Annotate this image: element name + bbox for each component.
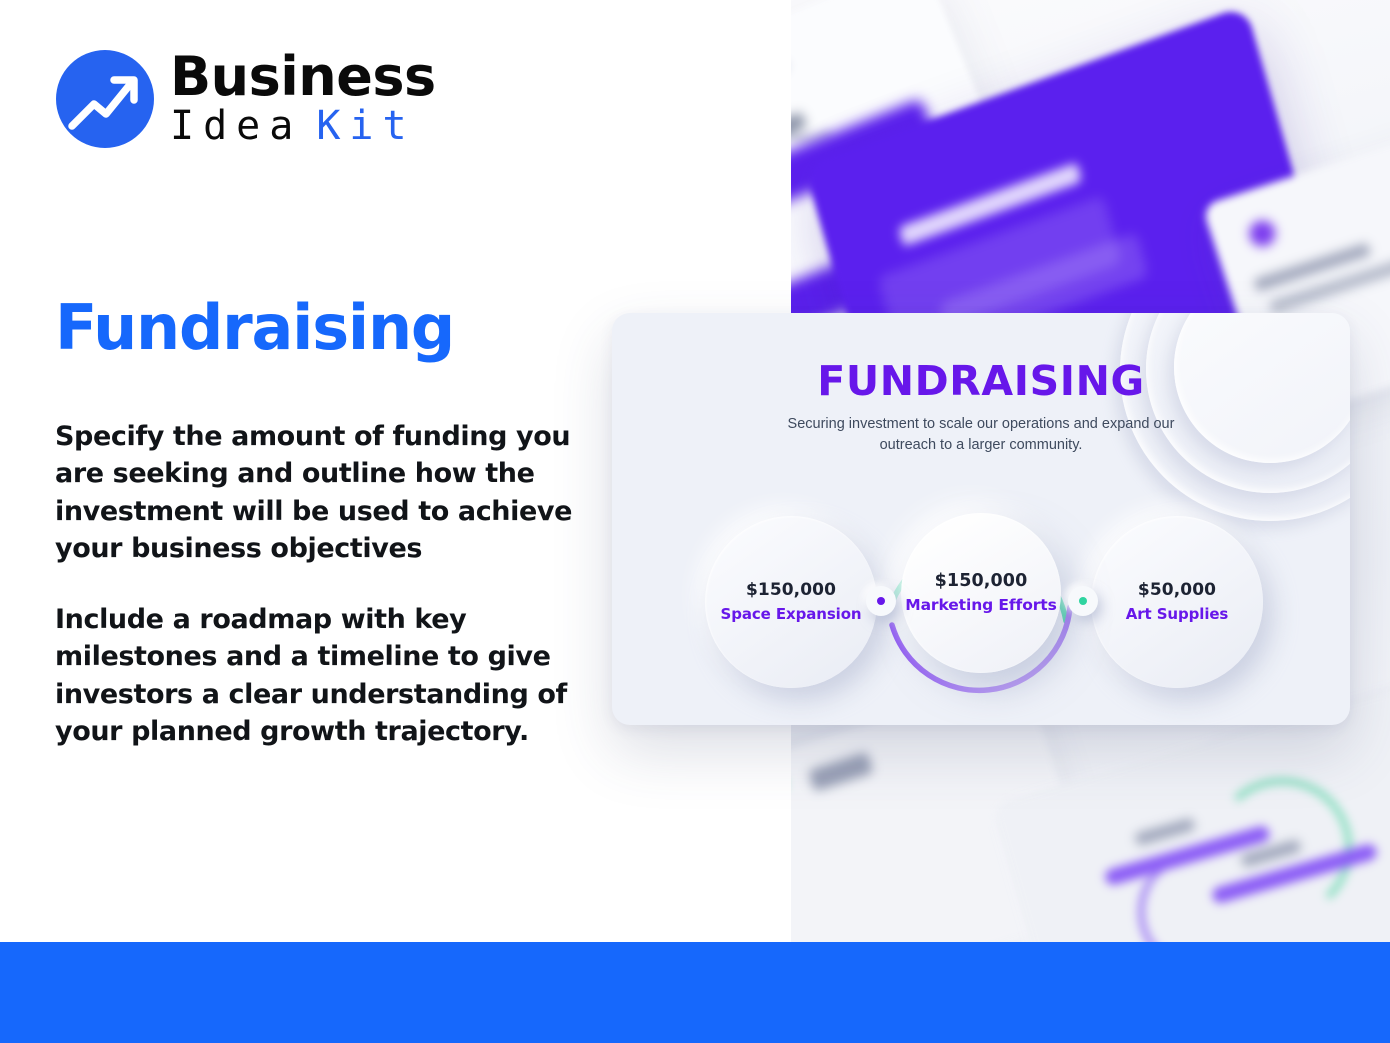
- brand-kit-text: Kit: [316, 106, 415, 146]
- body-copy: Specify the amount of funding you are se…: [55, 418, 575, 750]
- fund-item-label: Marketing Efforts: [905, 595, 1056, 616]
- backdrop-dot-c1: [1246, 217, 1279, 250]
- brand-idea-text: Idea: [170, 106, 302, 146]
- node-dot-purple: [877, 597, 885, 605]
- fund-item-label: Space Expansion: [721, 604, 862, 624]
- paragraph-1: Specify the amount of funding you are se…: [55, 418, 575, 567]
- node-dot-green: [1079, 597, 1087, 605]
- brand-wordmark: Business Idea Kit: [170, 50, 436, 148]
- fund-item-marketing-efforts-wrap: $150,000 Marketing Efforts: [887, 473, 1075, 725]
- backdrop-line-d1: [808, 752, 874, 792]
- paragraph-2: Include a roadmap with key milestones an…: [55, 601, 575, 750]
- fundraising-card: FUNDRAISING Securing investment to scale…: [612, 313, 1350, 725]
- footer-bar: [0, 942, 1390, 1043]
- fund-item-marketing-efforts[interactable]: $150,000 Marketing Efforts: [901, 513, 1061, 673]
- slide-page: Business Idea Kit Fundraising Specify th…: [0, 0, 1390, 1043]
- card-subtitle: Securing investment to scale our operati…: [766, 414, 1196, 455]
- connector-node-left: [866, 586, 896, 616]
- card-title: FUNDRAISING: [612, 357, 1350, 405]
- fund-item-art-supplies[interactable]: $50,000 Art Supplies: [1091, 516, 1263, 688]
- growth-arrow-icon: [56, 50, 154, 148]
- brand-name-line1: Business: [170, 50, 436, 104]
- fundraising-diagram: $150,000 Space Expansion: [612, 493, 1350, 725]
- connector-node-right: [1068, 586, 1098, 616]
- brand-logo: Business Idea Kit: [56, 50, 436, 148]
- page-title: Fundraising: [55, 295, 454, 360]
- fund-item-amount: $150,000: [935, 570, 1028, 594]
- backdrop-line-e1: [1134, 818, 1195, 846]
- brand-name-line2: Idea Kit: [170, 106, 436, 146]
- fund-item-amount: $150,000: [746, 579, 836, 602]
- fund-item-space-expansion[interactable]: $150,000 Space Expansion: [705, 516, 877, 688]
- fund-item-label: Art Supplies: [1126, 604, 1229, 624]
- fund-item-amount: $50,000: [1138, 579, 1216, 602]
